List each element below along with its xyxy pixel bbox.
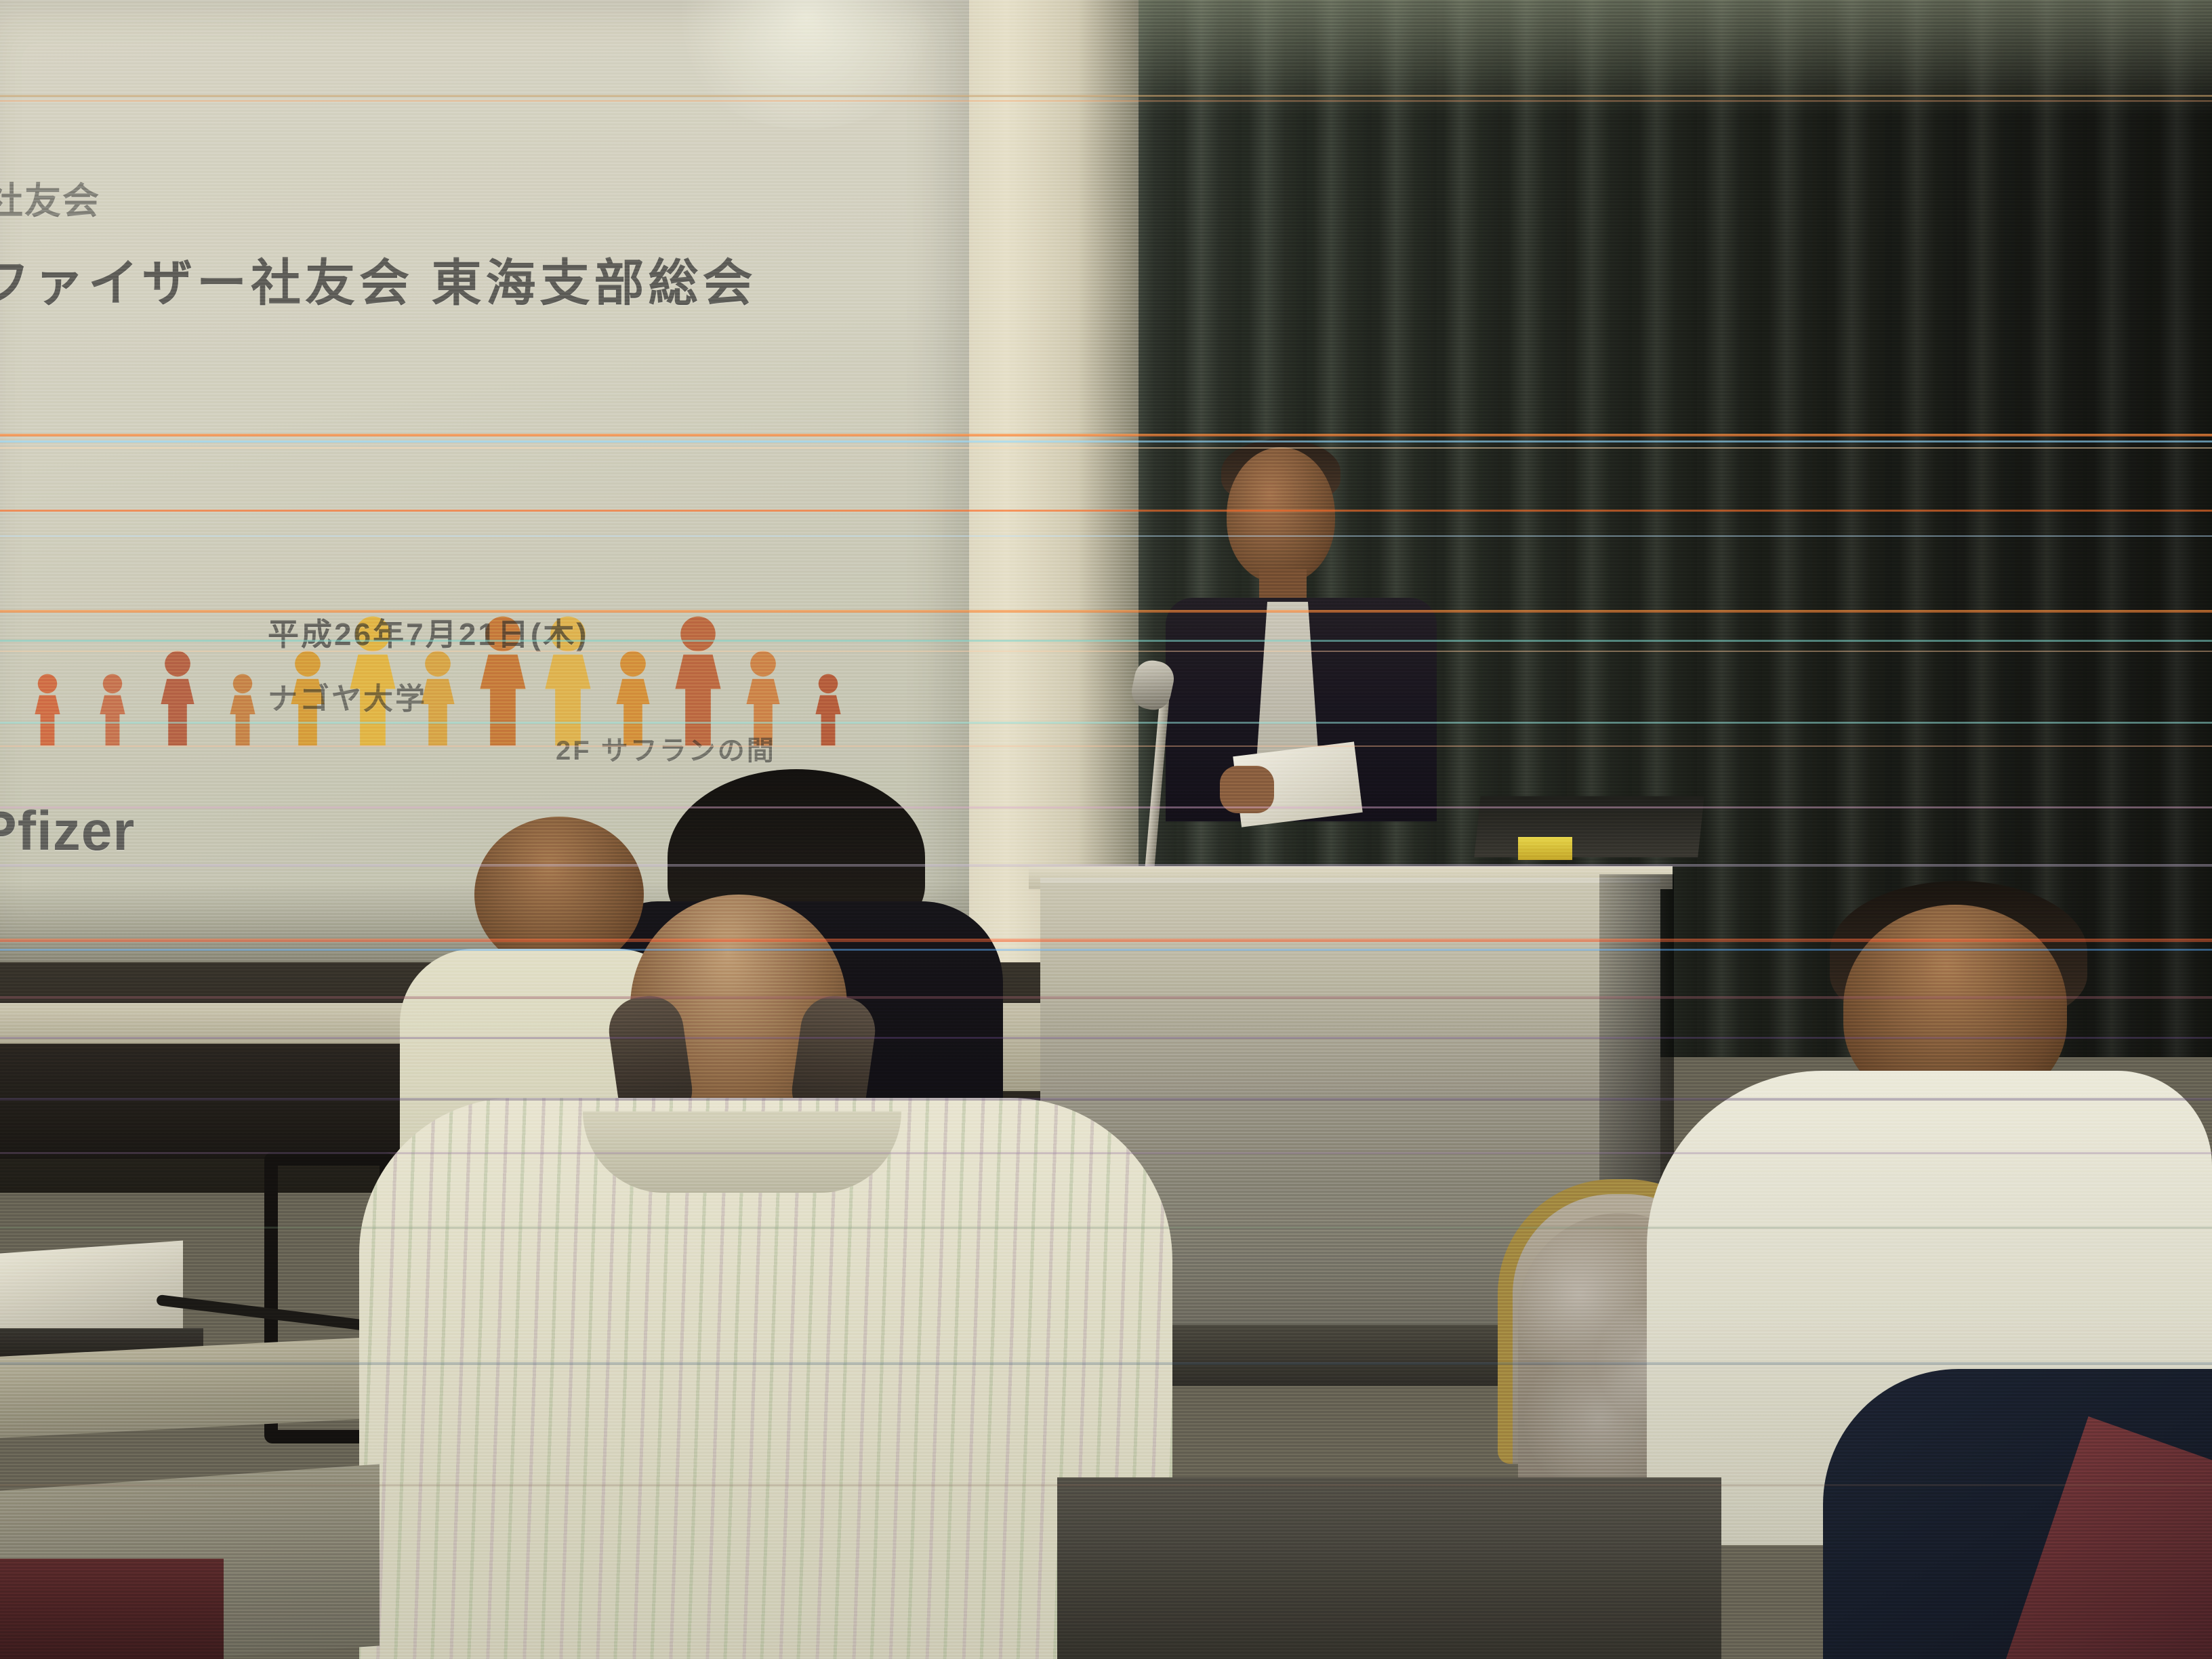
slide-person-figure — [230, 674, 255, 745]
rear-table — [0, 1003, 434, 1044]
slide-person-figure — [675, 617, 720, 745]
presenter-figure — [1145, 447, 1498, 908]
carpet — [0, 1559, 224, 1659]
slide-person-figure — [35, 674, 60, 745]
slide-person-figure — [100, 674, 125, 745]
foreground-table-right — [1057, 1477, 1721, 1659]
projector-hotspot — [664, 0, 949, 129]
pfizer-logo: Pfizer — [0, 800, 135, 863]
audience-striped-collar — [583, 1111, 901, 1193]
photo-canvas: 社友会 ファイザー社友会 東海支部総会 平成26年7月21日(木) ナゴヤ大学 … — [0, 0, 2212, 1659]
slide-title-top: 社友会 — [0, 171, 100, 224]
ceiling-light-glow — [1111, 0, 2212, 115]
podium-laptop — [1474, 796, 1704, 857]
presenter-head — [1227, 447, 1335, 583]
presenter-hand — [1220, 766, 1274, 813]
slide-venue: ナゴヤ大学 — [268, 674, 427, 718]
audience-laptop — [0, 1241, 183, 1342]
laptop-badge — [1518, 837, 1572, 860]
slide-title: ファイザー社友会 東海支部総会 — [0, 243, 757, 315]
slide-person-figure — [815, 674, 840, 745]
slide-room: 2F サフランの間 — [556, 729, 776, 768]
slide-date: 平成26年7月21日(木) — [268, 610, 589, 655]
slide-person-figure — [161, 651, 194, 745]
